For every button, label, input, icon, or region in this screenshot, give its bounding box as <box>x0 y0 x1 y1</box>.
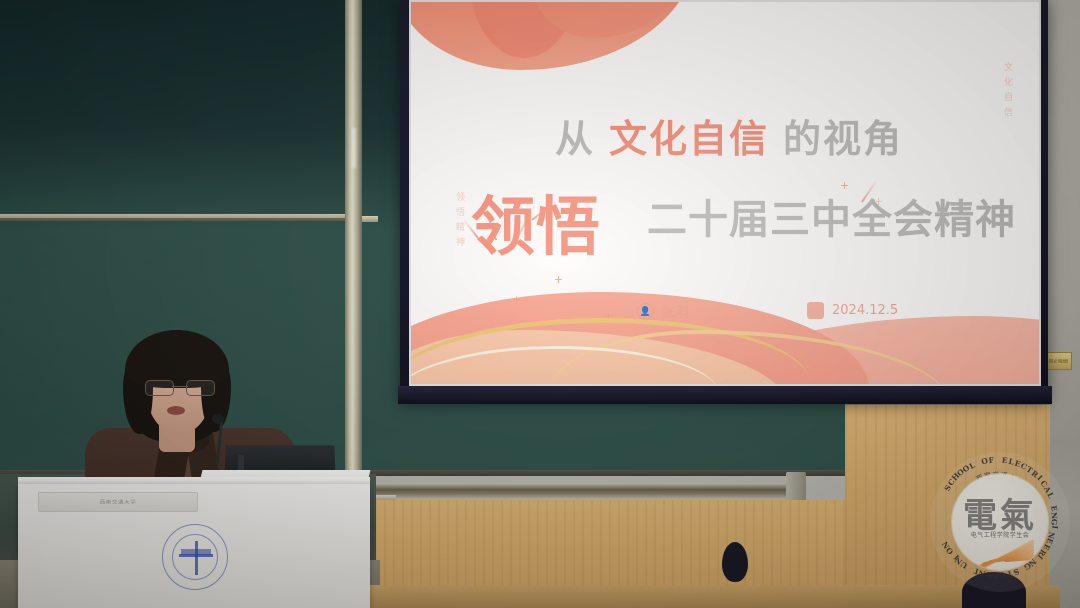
decor-vertical-text-right: 文化自信 <box>1001 62 1014 122</box>
decor-sparkle <box>513 296 520 303</box>
slide-title-line-2: 二十届三中全会精神 <box>647 200 1016 240</box>
chalkboard-rail-shadow <box>0 218 362 221</box>
glasses-icon <box>145 380 215 394</box>
lecture-hall-photo: 禁止吸烟 领悟精神 <box>0 0 1080 608</box>
watermark-ring-char: D <box>992 570 999 579</box>
slide-title-prefix: 从 <box>555 117 595 161</box>
podium-name-plate-text: 西南交通大学 <box>100 499 137 506</box>
calendar-icon <box>807 302 824 319</box>
wall-plaque: 禁止吸烟 <box>1044 352 1072 370</box>
audience-head-silhouette <box>722 542 748 582</box>
post-highlight <box>352 128 356 168</box>
watermark-ring-char: I <box>1050 525 1059 530</box>
chalk-tray <box>375 483 795 499</box>
slide-title-suffix: 的视角 <box>783 117 903 161</box>
slide-title-line-1: 从文化自信的视角 <box>555 108 903 163</box>
projector-screen-bottom-bar <box>398 386 1052 404</box>
person-icon: 👤 <box>637 303 654 320</box>
watermark-ring-char: F <box>988 455 995 465</box>
slide-presenter-name: 张羽 <box>662 302 690 321</box>
watermark-ring-char <box>1049 498 1058 503</box>
watermark-logo: SCHOOL OF ELECTRICAL ENGINEERING STUDENT… <box>930 452 1070 592</box>
presenter-mouth <box>167 406 185 415</box>
post-bracket <box>362 216 378 222</box>
seal-mark-bar <box>181 549 211 555</box>
watermark-ring-char: E <box>986 570 992 579</box>
seal-mark-vertical <box>195 541 198 575</box>
watermark-subtitle: 电气工程学院学生会 <box>952 530 1048 539</box>
microphone-icon <box>212 414 224 424</box>
slide-date-meta: 2024.12.5 <box>807 302 898 319</box>
projector-screen: 领悟精神 文化自信 从文化自信的视角 领悟 二十届三中全会精神 👤 张羽 202… <box>409 0 1041 386</box>
watermark-disc: 電氣 电气工程学院学生会 <box>952 474 1048 570</box>
slide-date: 2024.12.5 <box>832 303 898 318</box>
decor-sparkle <box>605 312 612 319</box>
chalkboard-shadow <box>0 0 400 230</box>
slide-big-word: 领悟 <box>471 196 601 260</box>
watermark-ring-char: S <box>1012 567 1020 577</box>
presentation-slide: 领悟精神 文化自信 从文化自信的视角 领悟 二十届三中全会精神 👤 张羽 202… <box>409 0 1041 386</box>
wall-plaque-text: 禁止吸烟 <box>1049 358 1068 364</box>
watermark-ring-char <box>997 455 1000 464</box>
decor-sparkle <box>555 276 562 283</box>
slide-title-accent: 文化自信 <box>609 117 769 161</box>
podium-name-plate: 西南交通大学 <box>38 492 198 512</box>
university-seal-inner <box>172 534 218 580</box>
decor-vertical-text-left: 领悟精神 <box>453 192 466 252</box>
decor-sparkle <box>841 182 848 189</box>
chalkboard-divider-post <box>345 0 362 470</box>
slide-presenter-meta: 👤 张羽 <box>637 302 690 321</box>
university-seal <box>162 524 228 590</box>
watermark-ring-char: E <box>1001 456 1007 465</box>
watermark-ring-char: U <box>998 570 1006 580</box>
